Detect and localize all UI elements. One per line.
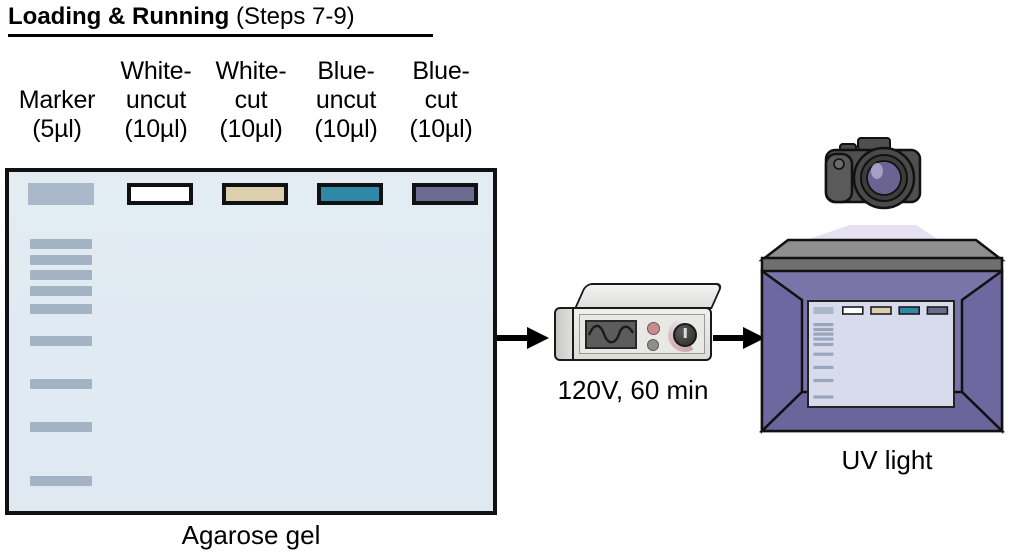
marker-band-2 (30, 255, 92, 265)
header-line2: cut (361, 86, 521, 115)
marker-band-3 (30, 270, 92, 280)
power-supply-face (572, 307, 712, 361)
gel-caption: Agarose gel (5, 520, 497, 551)
sine-wave-icon (587, 322, 635, 347)
header-line3: (10µl) (361, 115, 521, 144)
dslr-camera-icon (826, 138, 920, 208)
power-supply-caption: 120V, 60 min (520, 375, 746, 406)
uv-gel-marker-band-4 (813, 337, 833, 340)
marker-band-6 (30, 336, 92, 346)
uv-gel-well-blue-cut (927, 307, 947, 314)
voltage-knob[interactable] (673, 323, 697, 347)
uv-gel-well-white-cut (871, 307, 891, 314)
well-blue-uncut (317, 183, 383, 205)
page-title: Loading & Running (Steps 7-9) (8, 2, 355, 32)
uv-gel-well-white-uncut (843, 307, 863, 314)
uv-imaging-scene (740, 130, 1024, 450)
title-underline (8, 34, 433, 37)
power-supply-panel (579, 314, 705, 354)
uv-gel-marker-band-1 (813, 323, 833, 326)
arrow-gel-to-power-supply (497, 327, 549, 349)
marker-band-1 (30, 239, 92, 249)
column-header-blue-cut: Blue-cut(10µl) (361, 57, 521, 144)
well-marker (28, 183, 94, 205)
uv-gel-marker-band-7 (813, 366, 833, 369)
power-supply-screen (585, 320, 637, 349)
uv-gel-marker-band-3 (813, 333, 833, 336)
header-line1: Blue- (361, 57, 521, 86)
uv-light-caption: UV light (758, 445, 1016, 476)
title-rest: (Steps 7-9) (229, 3, 354, 30)
power-indicator-led (647, 322, 660, 335)
well-blue-cut (412, 183, 478, 205)
arrow-shaft (497, 335, 531, 341)
agarose-gel (5, 168, 497, 515)
power-supply-top (574, 283, 724, 309)
arrow-head (527, 327, 549, 349)
marker-band-4 (30, 286, 92, 296)
secondary-led (647, 339, 659, 351)
uv-gel-marker-band-8 (813, 379, 833, 382)
well-white-cut (222, 183, 288, 205)
power-supply (554, 283, 712, 363)
marker-band-7 (30, 379, 92, 389)
uv-gel-marker-band-6 (813, 353, 833, 356)
uv-gel-marker-band-5 (813, 343, 833, 346)
title-strong: Loading & Running (8, 3, 229, 30)
uv-gel-marker-band-9 (813, 395, 833, 398)
well-white-uncut (127, 183, 193, 205)
marker-band-9 (30, 476, 92, 486)
uv-gel-well-marker (813, 307, 833, 314)
marker-band-8 (30, 422, 92, 432)
knob-pointer (684, 328, 687, 338)
marker-band-5 (30, 304, 92, 314)
uv-gel-marker-band-2 (813, 328, 833, 331)
uv-gel-well-blue-uncut (899, 307, 919, 314)
